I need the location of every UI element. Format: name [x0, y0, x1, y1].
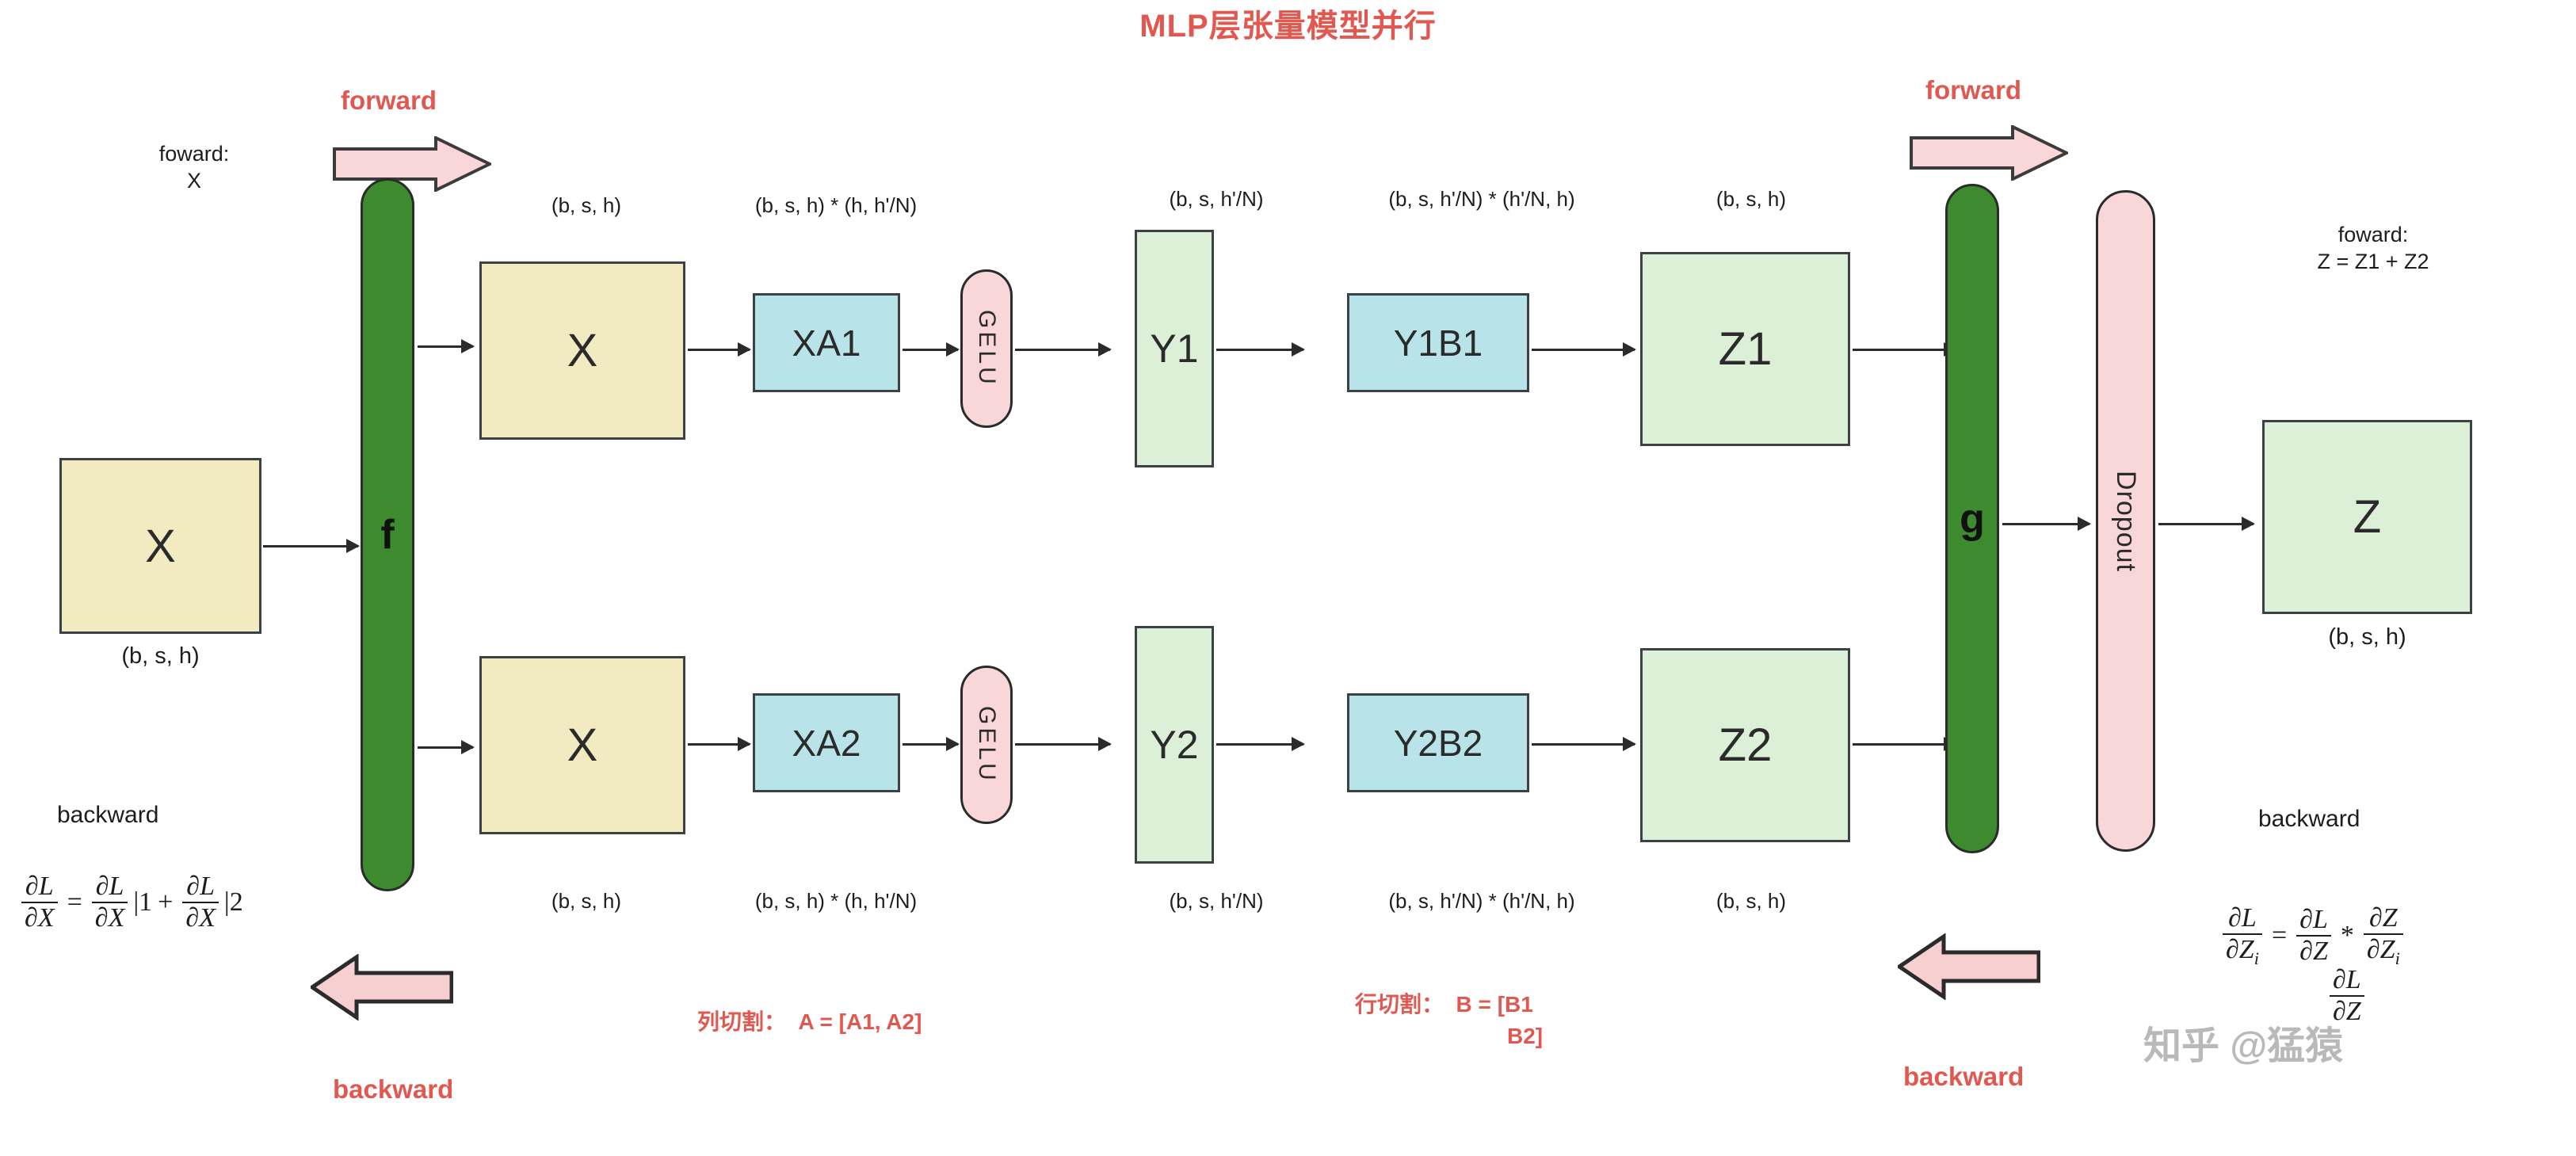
backward-block-arrow-right: [1898, 933, 2040, 1004]
row-top-node-gelu-label: GELU: [973, 310, 1000, 387]
row-top-node-y1b1: Y1B1: [1347, 293, 1529, 392]
conn-top-y1-y1b1: [1216, 349, 1303, 351]
conn-top-x-xa1: [688, 349, 750, 351]
row-bottom-node-x: X: [479, 656, 685, 834]
conn-bot-z2-g: [1853, 743, 1956, 746]
row-top-dim-0: (b, s, h): [487, 193, 685, 218]
conn-f-to-xtop: [418, 345, 473, 348]
row-top-dim-3: (b, s, h'/N) * (h'/N, h): [1323, 187, 1640, 212]
conn-dropout-to-z: [2158, 523, 2254, 525]
left-backward-formula: ∂L ∂X = ∂L ∂X |1 + ∂L ∂X |2: [17, 872, 243, 933]
column-split-note: 列切割： A = [A1, A2]: [697, 1005, 922, 1036]
conn-f-to-xbot: [418, 746, 473, 749]
forward-label-right: forward: [1925, 75, 2021, 105]
conn-top-z1-g: [1853, 349, 1956, 351]
conn-bot-xa2-gelu: [903, 743, 958, 746]
forward-block-arrow-left: [333, 136, 491, 196]
dropout-column: Dropout: [2096, 190, 2155, 852]
conn-top-y1b1-z1: [1532, 349, 1635, 351]
row-bottom-node-xa2: XA2: [753, 693, 900, 792]
dropout-label: Dropout: [2110, 471, 2141, 572]
lbf-t2-den: ∂X: [182, 902, 219, 933]
row-bottom-dim-3: (b, s, h'/N) * (h'/N, h): [1323, 889, 1640, 914]
row-bottom-node-xa2-label: XA2: [792, 722, 861, 765]
input-x-box: X: [59, 458, 261, 634]
conn-bot-gelu-y2: [1015, 743, 1110, 746]
row-bottom-node-z2: Z2: [1640, 648, 1850, 842]
lbf-plus: +: [158, 887, 173, 918]
backward-label-right: backward: [1903, 1062, 2024, 1092]
conn-bot-y2-y2b2: [1216, 743, 1303, 746]
row-top-node-y1: Y1: [1135, 230, 1214, 467]
row-bottom-dim-4: (b, s, h): [1652, 889, 1850, 914]
conn-bot-y2b2-z2: [1532, 743, 1635, 746]
rbf-lhs-den: ∂Z: [2226, 935, 2254, 964]
row-bottom-node-y2b2: Y2B2: [1347, 693, 1529, 792]
right-backward-formula: ∂L ∂Zi = ∂L ∂Z * ∂Z ∂Zi: [2219, 903, 2407, 968]
rbf-extra-num: ∂L: [2330, 965, 2364, 995]
watermark: 知乎 @猛猿: [2143, 1014, 2343, 1070]
row-top-node-xa1: XA1: [753, 293, 900, 392]
f-column-label: f: [380, 511, 394, 559]
conn-top-xa1-gelu: [903, 349, 958, 351]
output-z-dim: (b, s, h): [2262, 624, 2472, 650]
row-top-node-y1b1-label: Y1B1: [1394, 322, 1483, 364]
row-top-dim-2: (b, s, h'/N): [1113, 187, 1319, 212]
rbf-t1-num: ∂L: [2296, 905, 2331, 935]
row-top-dim-4: (b, s, h): [1652, 187, 1850, 212]
output-z-label: Z: [2353, 490, 2381, 544]
row-bottom-node-x-label: X: [567, 719, 598, 772]
f-column: f: [361, 178, 414, 891]
rbf-t2-den: ∂Z: [2367, 935, 2395, 964]
backward-label-left: backward: [333, 1074, 453, 1104]
row-top-node-x-label: X: [567, 324, 598, 377]
row-bottom-dim-2: (b, s, h'/N): [1113, 889, 1319, 914]
rbf-t2-num: ∂Z: [2366, 903, 2401, 933]
rbf-lhs-num: ∂L: [2225, 903, 2260, 933]
row-top-node-gelu: GELU: [960, 269, 1013, 428]
g-column-label: g: [1960, 495, 1985, 543]
output-z-box: Z: [2262, 420, 2472, 614]
lbf-lhs-den: ∂X: [21, 902, 58, 933]
lbf-lhs-num: ∂L: [22, 872, 57, 902]
row-bottom-node-gelu-label: GELU: [973, 706, 1000, 784]
conn-x-to-f: [263, 545, 358, 547]
row-top-node-y1-label: Y1: [1150, 326, 1198, 372]
rbf-t1-den: ∂Z: [2296, 935, 2331, 967]
right-backward-caption: backward: [2258, 804, 2360, 834]
input-x-dim: (b, s, h): [59, 643, 261, 670]
rbf-t2-sub: i: [2395, 948, 2400, 968]
row-bottom-node-y2: Y2: [1135, 626, 1214, 864]
lbf-eq: =: [67, 887, 82, 918]
rbf-eq: =: [2272, 921, 2287, 951]
lbf-t2-bar: |2: [224, 887, 243, 918]
row-bottom-dim-1: (b, s, h) * (h, h'/N): [701, 889, 971, 914]
lbf-t1-den: ∂X: [92, 902, 128, 933]
left-forward-caption: foward: X: [103, 141, 285, 195]
conn-bot-x-xa2: [688, 743, 750, 746]
forward-block-arrow-right: [1910, 125, 2068, 185]
row-bottom-node-gelu: GELU: [960, 666, 1013, 824]
row-top-node-z1-label: Z1: [1719, 322, 1773, 376]
row-top-node-x: X: [479, 261, 685, 440]
input-x-label: X: [145, 520, 176, 573]
lbf-t1-bar: |1: [133, 887, 152, 918]
g-column: g: [1945, 184, 1999, 853]
row-bottom-dim-0: (b, s, h): [487, 889, 685, 914]
row-top-dim-1: (b, s, h) * (h, h'/N): [701, 193, 971, 218]
right-forward-caption: foward: Z = Z1 + Z2: [2254, 222, 2492, 276]
row-split-note-line2: B2]: [1507, 1024, 1543, 1049]
conn-top-gelu-y1: [1015, 349, 1110, 351]
left-backward-caption: backward: [57, 800, 158, 830]
row-bottom-node-y2-label: Y2: [1150, 722, 1198, 768]
rbf-star: *: [2341, 921, 2354, 951]
conn-g-to-dropout: [2002, 523, 2089, 525]
row-bottom-node-y2b2-label: Y2B2: [1394, 722, 1483, 765]
rbf-lhs-sub: i: [2254, 948, 2259, 968]
page-title: MLP层张量模型并行: [0, 0, 2576, 46]
lbf-t2-num: ∂L: [183, 872, 218, 902]
lbf-t1-num: ∂L: [93, 872, 128, 902]
row-bottom-node-z2-label: Z2: [1719, 719, 1773, 772]
row-top-node-z1: Z1: [1640, 252, 1850, 446]
forward-label-left: forward: [341, 86, 437, 116]
row-top-node-xa1-label: XA1: [792, 322, 861, 364]
row-split-note-line1: 行切割： B = [B1: [1355, 987, 1533, 1019]
backward-block-arrow-left: [311, 954, 453, 1024]
